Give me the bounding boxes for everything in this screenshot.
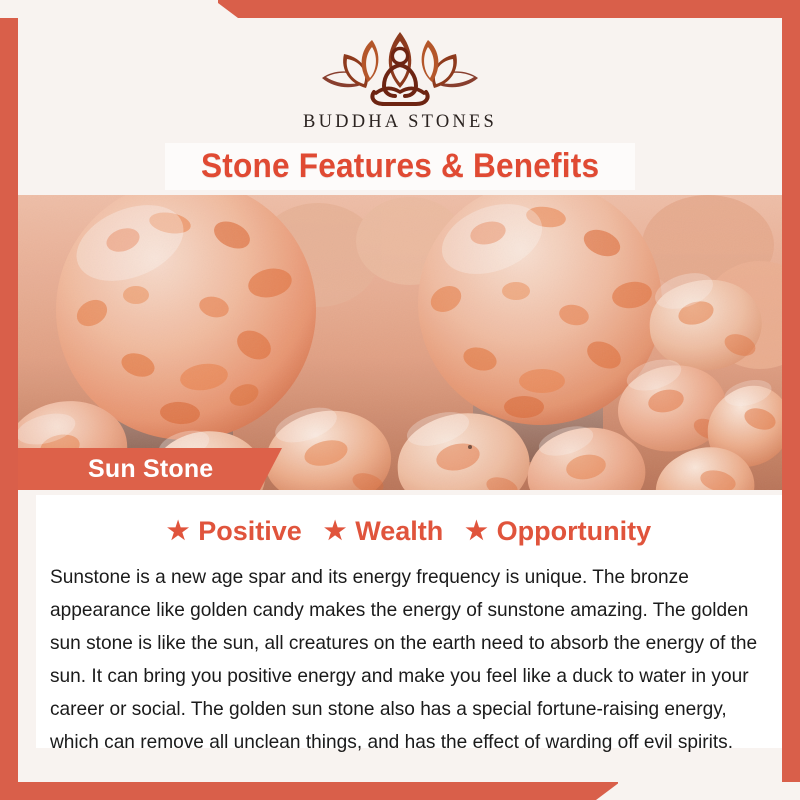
stone-label-text: Sun Stone xyxy=(88,455,213,484)
inner-panel: BUDDHA STONES Stone Features & Benefits xyxy=(18,18,782,782)
star-icon: ★ xyxy=(465,519,487,544)
title-banner: Stone Features & Benefits xyxy=(165,143,635,190)
star-icon: ★ xyxy=(324,519,346,544)
star-icon: ★ xyxy=(167,519,189,544)
brand-header: BUDDHA STONES xyxy=(18,18,782,143)
keyword-list: ★ Positive ★ Wealth ★ Opportunity xyxy=(36,495,782,547)
keyword-label: Positive xyxy=(198,516,302,547)
frame-notch-bottom-right-diagonal xyxy=(596,782,620,800)
keyword-label: Opportunity xyxy=(497,516,651,547)
frame-notch-bottom-right xyxy=(618,782,800,800)
stone-label-tab: Sun Stone xyxy=(18,448,282,490)
stone-photo xyxy=(18,195,782,490)
keyword-item-wealth: ★ Wealth xyxy=(324,516,443,547)
page-title: Stone Features & Benefits xyxy=(201,147,599,186)
keyword-item-positive: ★ Positive xyxy=(167,516,302,547)
keyword-label: Wealth xyxy=(355,516,443,547)
keyword-item-opportunity: ★ Opportunity xyxy=(465,516,651,547)
infographic-page: BUDDHA STONES Stone Features & Benefits xyxy=(0,0,800,800)
content-card: ★ Positive ★ Wealth ★ Opportunity Sunsto… xyxy=(36,495,782,748)
stone-description: Sunstone is a new age spar and its energ… xyxy=(50,561,757,759)
brand-name: BUDDHA STONES xyxy=(303,112,497,133)
lotus-meditation-icon xyxy=(314,30,486,108)
frame-notch-top-left xyxy=(0,0,218,18)
